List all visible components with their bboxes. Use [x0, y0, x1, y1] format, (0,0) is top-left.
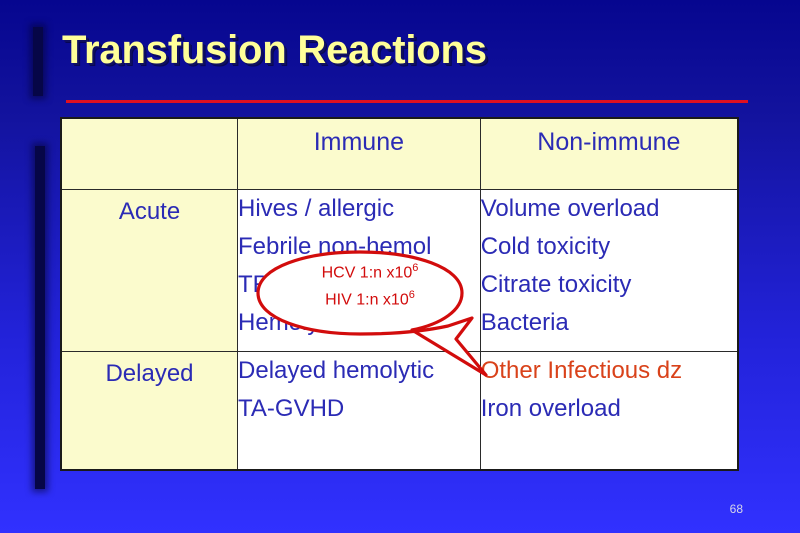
list-acute-immune: Hives / allergic Febrile non-hemol TRALI…: [238, 190, 480, 342]
table-header-corner-label: [62, 119, 237, 128]
transfusion-reactions-table: Immune Non-immune Acute Hives / allergic…: [60, 117, 739, 471]
table-header-non-immune-label: Non-immune: [481, 119, 737, 157]
cell-delayed-non-immune: Other Infectious dz Iron overload: [480, 352, 738, 470]
row-label-delayed-text: Delayed: [62, 352, 237, 388]
row-label-acute-text: Acute: [62, 190, 237, 226]
list-item: Hemolytic: [238, 304, 480, 342]
table-header-immune-label: Immune: [238, 119, 480, 157]
table-header-non-immune: Non-immune: [480, 118, 738, 190]
page-number: 68: [730, 502, 743, 516]
table-header-corner: [61, 118, 238, 190]
cell-acute-immune: Hives / allergic Febrile non-hemol TRALI…: [238, 190, 481, 352]
table-header-row: Immune Non-immune: [61, 118, 738, 190]
list-item: TA-GVHD: [238, 390, 480, 428]
list-delayed-immune: Delayed hemolytic TA-GVHD: [238, 352, 480, 428]
list-item: Delayed hemolytic: [238, 352, 480, 390]
list-item-highlighted: Other Infectious dz: [481, 352, 737, 390]
title-accent-bar: [33, 27, 43, 96]
list-item: Hives / allergic: [238, 190, 480, 228]
row-label-acute: Acute: [61, 190, 238, 352]
table-row: Acute Hives / allergic Febrile non-hemol…: [61, 190, 738, 352]
list-item: Volume overload: [481, 190, 737, 228]
list-item: Citrate toxicity: [481, 266, 737, 304]
list-item: TRALI: [238, 266, 480, 304]
row-label-delayed: Delayed: [61, 352, 238, 470]
cell-acute-non-immune: Volume overload Cold toxicity Citrate to…: [480, 190, 738, 352]
list-delayed-non-immune: Other Infectious dz Iron overload: [481, 352, 737, 428]
slide-canvas: Transfusion Reactions Immune Non-immune: [0, 0, 800, 533]
list-item: Iron overload: [481, 390, 737, 428]
list-item: Cold toxicity: [481, 228, 737, 266]
list-acute-non-immune: Volume overload Cold toxicity Citrate to…: [481, 190, 737, 342]
body-accent-bar: [35, 146, 45, 489]
table-header-immune: Immune: [238, 118, 481, 190]
cell-delayed-immune: Delayed hemolytic TA-GVHD: [238, 352, 481, 470]
list-item: Febrile non-hemol: [238, 228, 480, 266]
table-row: Delayed Delayed hemolytic TA-GVHD Other …: [61, 352, 738, 470]
title-divider-rule: [66, 100, 748, 103]
list-item: Bacteria: [481, 304, 737, 342]
page-title: Transfusion Reactions: [62, 28, 487, 73]
